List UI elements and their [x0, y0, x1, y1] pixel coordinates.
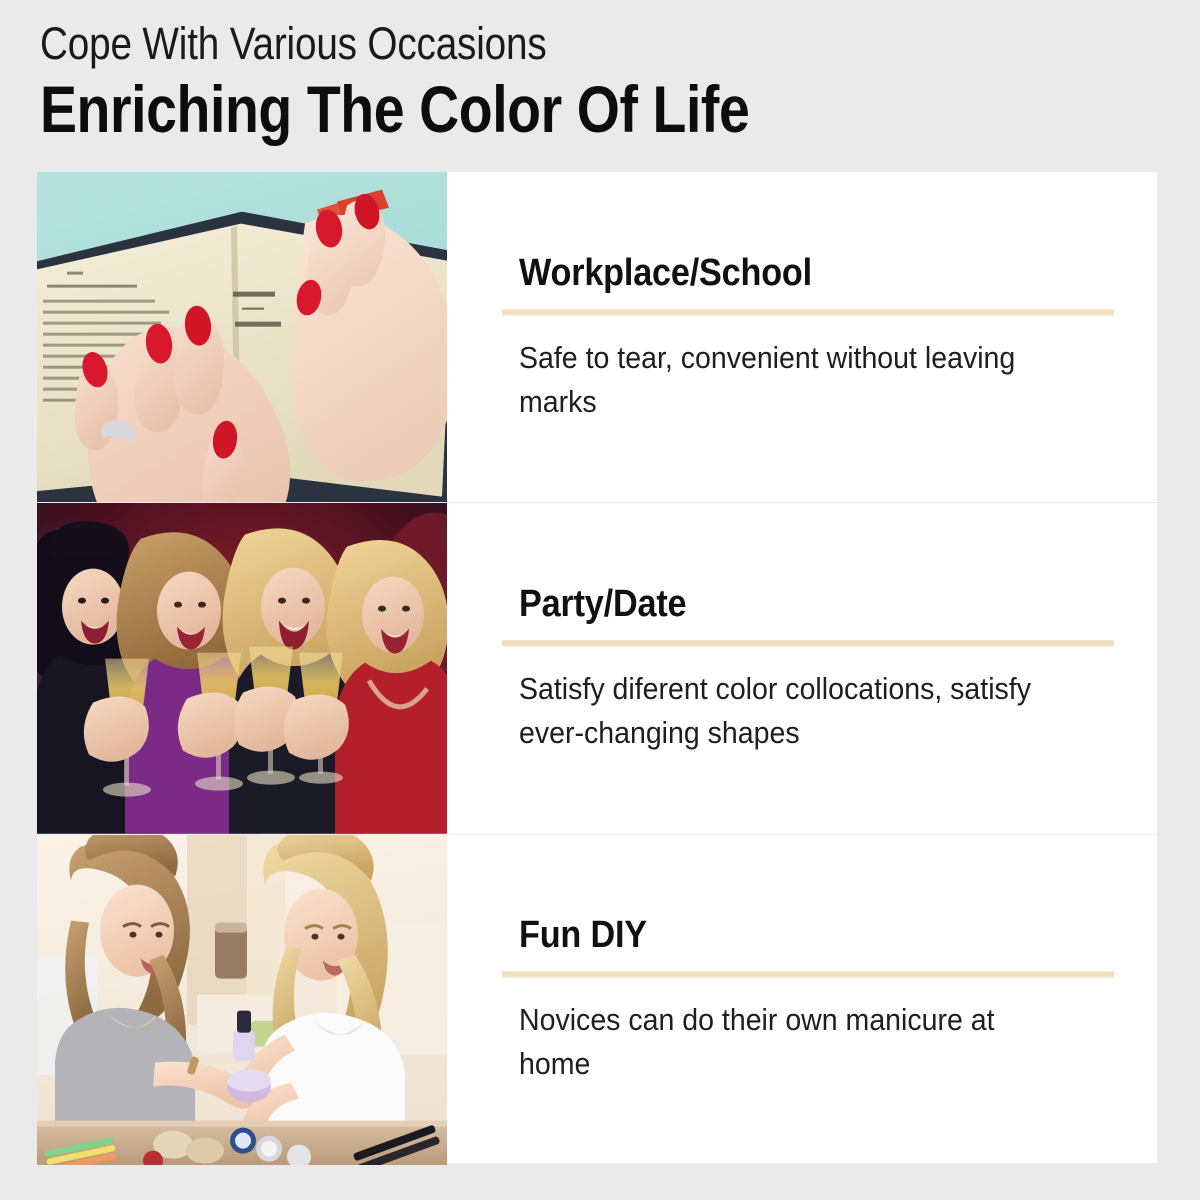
card-body-text: Safe to tear, convenient without leaving… — [519, 336, 1066, 424]
card-divider-rule — [502, 640, 1114, 647]
card-divider-rule — [502, 971, 1114, 978]
header: Cope With Various Occasions Enriching Th… — [40, 18, 1160, 146]
card-divider-rule — [502, 309, 1114, 316]
card-body-text: Novices can do their own manicure at hom… — [519, 998, 1066, 1086]
promo-infographic: Cope With Various Occasions Enriching Th… — [0, 0, 1200, 1200]
card-row-workplace-school: Workplace/School Safe to tear, convenien… — [37, 172, 1157, 503]
page-title: Enriching The Color Of Life — [40, 72, 981, 146]
card-content-party-date: Party/Date Satisfy diferent color colloc… — [447, 503, 1169, 833]
card-content-fun-diy: Fun DIY Novices can do their own manicur… — [447, 835, 1169, 1165]
card-row-party-date: Party/Date Satisfy diferent color colloc… — [37, 503, 1157, 834]
card-content-workplace-school: Workplace/School Safe to tear, convenien… — [447, 172, 1169, 502]
card-title: Party/Date — [519, 582, 1055, 626]
card-title: Workplace/School — [519, 251, 1055, 295]
card-image-party-date — [37, 503, 447, 833]
card-image-workplace-school — [37, 172, 447, 502]
cards-panel: Workplace/School Safe to tear, convenien… — [37, 172, 1157, 1163]
card-image-fun-diy — [37, 835, 447, 1165]
header-subtitle: Cope With Various Occasions — [40, 18, 1003, 70]
card-title: Fun DIY — [519, 913, 1055, 957]
card-row-fun-diy: Fun DIY Novices can do their own manicur… — [37, 835, 1157, 1165]
card-body-text: Satisfy diferent color collocations, sat… — [519, 667, 1066, 755]
